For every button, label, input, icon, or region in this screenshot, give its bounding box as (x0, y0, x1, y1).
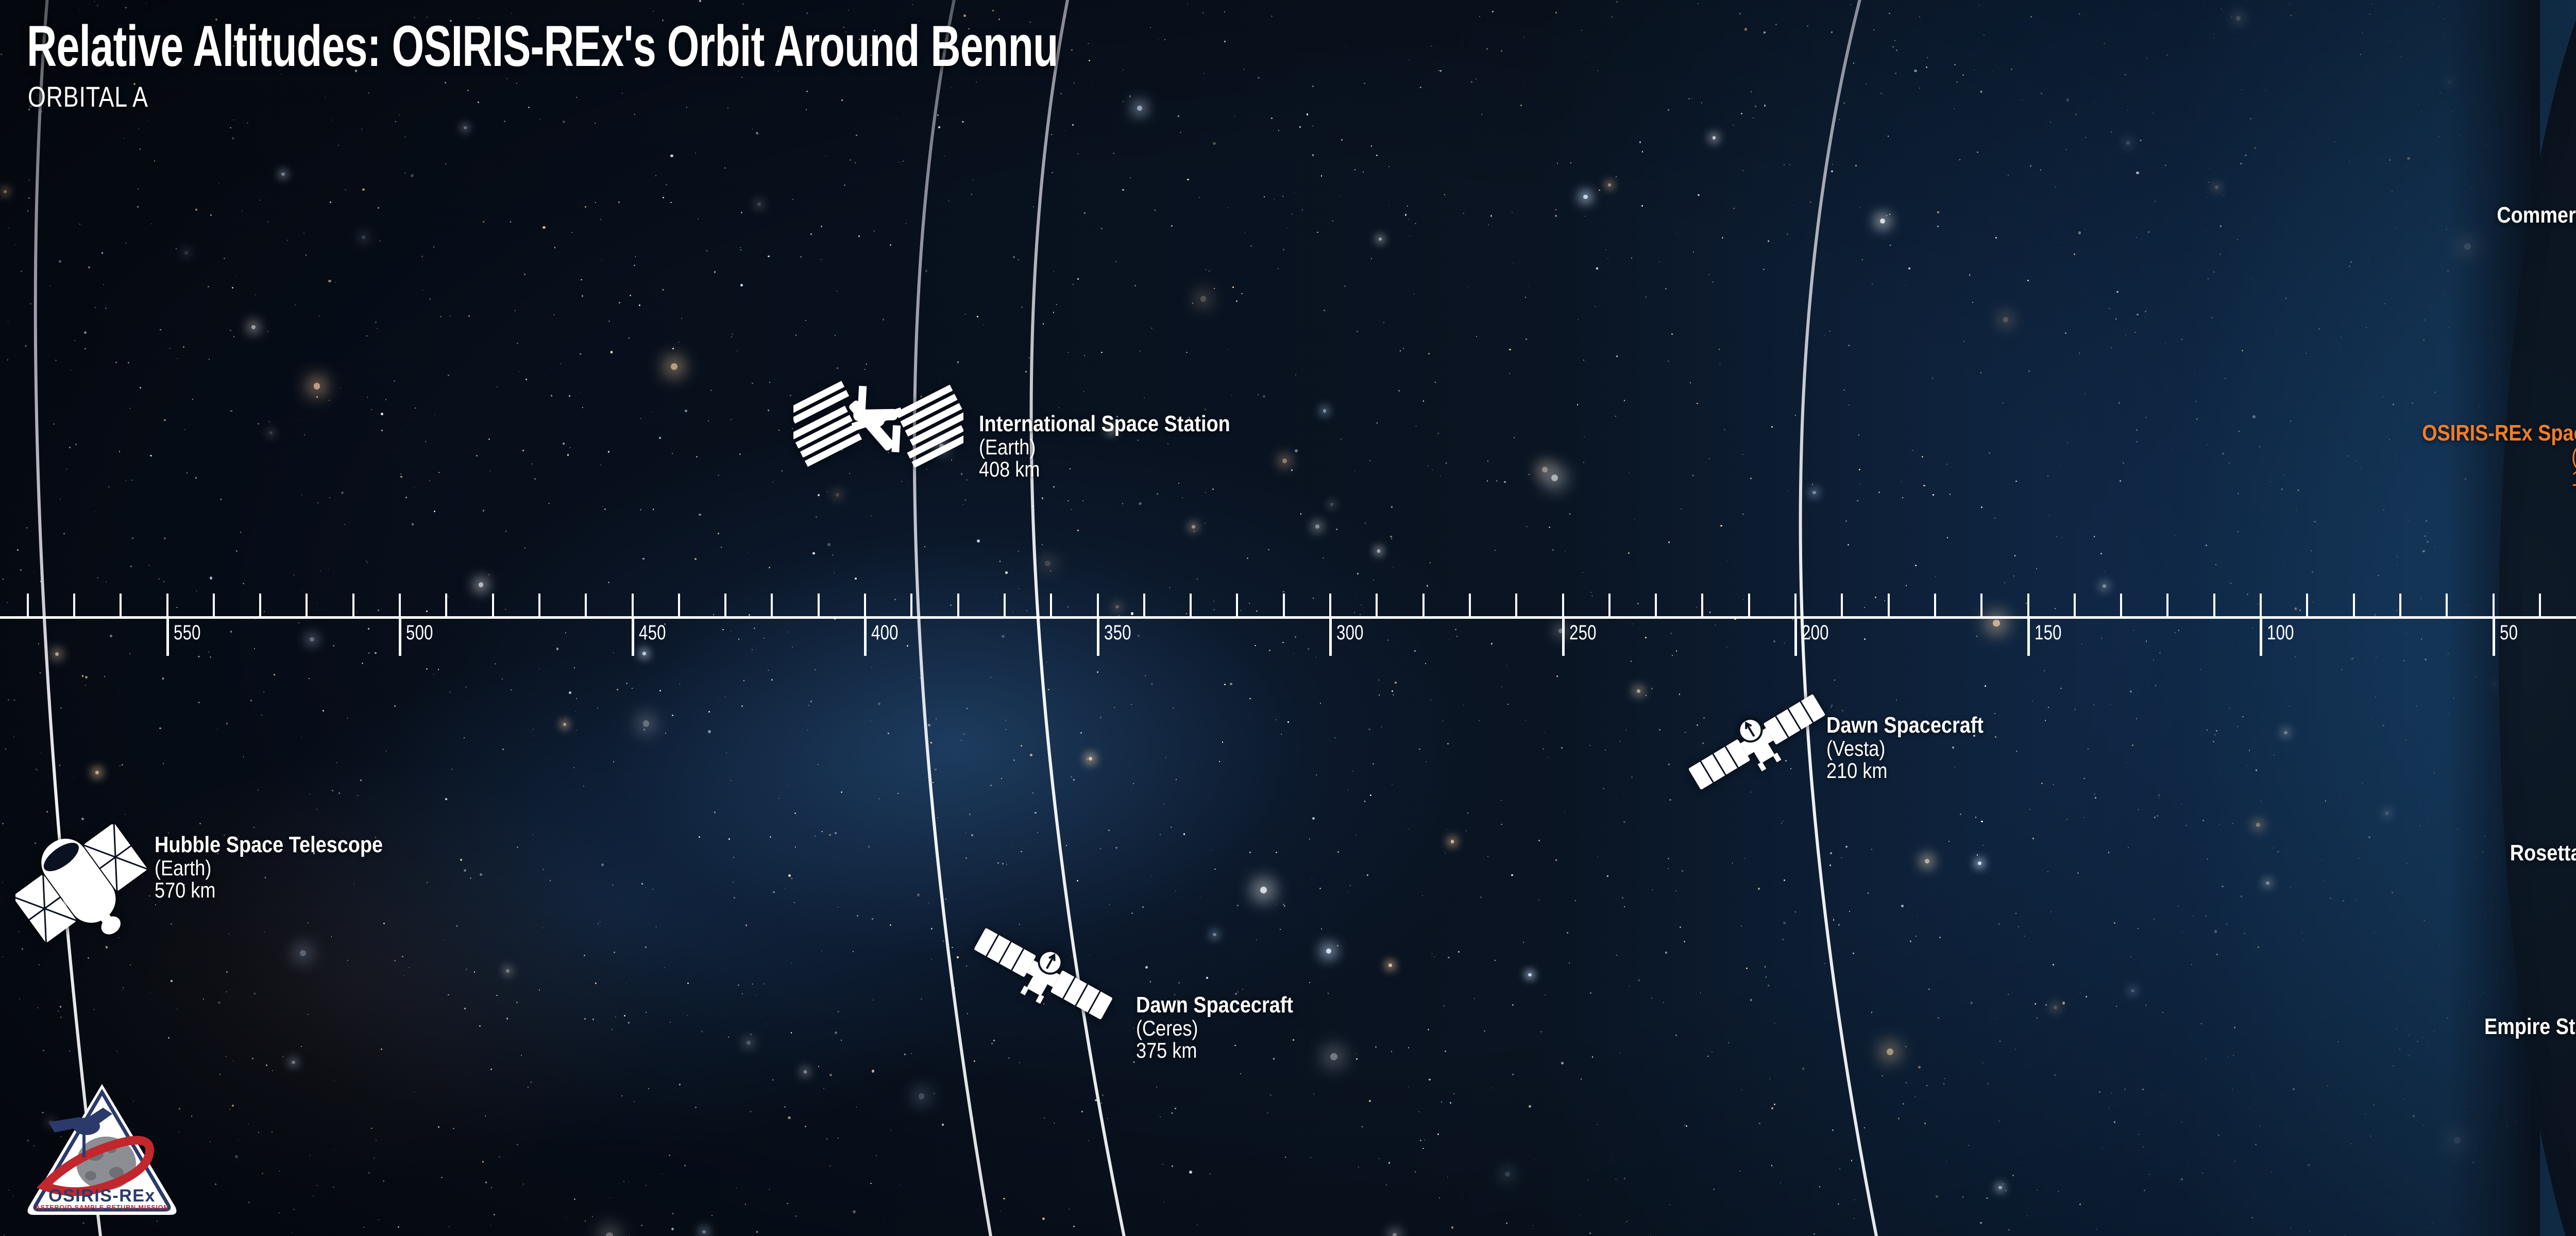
axis-tick-label: 150 (2035, 621, 2062, 645)
annotation-altitude: 1.33 km (2422, 467, 2576, 490)
axis-minor-tick (2166, 594, 2168, 616)
axis-minor-tick (399, 594, 401, 616)
annotation-hubble-space-telescope: Hubble Space Telescope (Earth) 570 km (155, 833, 420, 902)
axis-minor-tick (1190, 594, 1192, 616)
axis-major-tick (2027, 618, 2030, 656)
axis-minor-tick (2306, 594, 2308, 616)
axis-tick-label: 500 (406, 621, 433, 645)
annotation-name: Hubble Space Telescope (155, 833, 383, 857)
annotation-name: Commercial Airliner (2497, 204, 2576, 227)
axis-minor-tick (1562, 594, 1564, 616)
annotation-international-space-station: International Space Station (Earth) 408 … (979, 412, 1271, 481)
axis-minor-tick (166, 594, 168, 616)
annotation-body: (Earth) (979, 436, 1230, 459)
axis-major-tick (1562, 618, 1565, 656)
axis-minor-tick (2120, 594, 2122, 616)
axis-minor-tick (1934, 594, 1936, 616)
axis-minor-tick (1004, 594, 1006, 616)
axis-minor-tick (910, 594, 912, 616)
axis-minor-tick (352, 594, 354, 616)
axis-minor-tick (1701, 594, 1703, 616)
axis-tick-label: 100 (2267, 621, 2294, 645)
annotation-empire-state-building: Empire State Building (Earth) 0.4 km (2451, 1015, 2576, 1083)
axis-minor-tick (1376, 594, 1378, 616)
axis-major-tick (166, 618, 169, 656)
page-subtitle: ORBITAL A (28, 82, 148, 111)
axis-minor-tick (585, 594, 587, 616)
axis-minor-tick (632, 594, 634, 616)
annotation-name: International Space Station (979, 412, 1230, 436)
annotation-dawn-spacecraft-ceres: Dawn Spacecraft (Ceres) 375 km (1136, 993, 1319, 1062)
axis-major-tick (1794, 618, 1797, 656)
axis-minor-tick (492, 594, 494, 616)
annotation-body: (Earth) (2497, 227, 2576, 250)
annotation-name: Empire State Building (2484, 1015, 2576, 1039)
axis-minor-tick (1748, 594, 1750, 616)
axis-major-tick (2260, 618, 2262, 656)
axis-minor-tick (1608, 594, 1611, 616)
axis-minor-tick (73, 594, 75, 616)
logo-tagline: ASTEROID SAMPLE RETURN MISSION (36, 1204, 169, 1211)
annotation-body: (Vesta) (1826, 737, 1984, 760)
annotation-name: OSIRIS-REx Spacecraft (2422, 421, 2576, 445)
axis-minor-tick (2399, 594, 2401, 616)
annotation-altitude: 408 km (979, 458, 1230, 481)
dawn-spacecraft-icon (1682, 690, 1832, 793)
axis-minor-tick (1143, 594, 1145, 616)
logo-wordmark: OSIRIS-REx (48, 1186, 156, 1206)
axis-tick-label: 450 (639, 621, 666, 645)
annotation-dawn-spacecraft-vesta: Dawn Spacecraft (Vesta) 210 km (1826, 714, 2009, 782)
infographic-canvas: 55050045040035030025020015010050 Relativ… (0, 0, 2576, 1236)
axis-minor-tick (1329, 594, 1331, 616)
annotation-name: Rosetta Spacecraft (2510, 841, 2576, 865)
annotation-body: (Earth) (155, 857, 383, 879)
annotation-name: Dawn Spacecraft (1826, 714, 1984, 737)
axis-tick-label: 550 (174, 621, 201, 645)
axis-minor-tick (1841, 594, 1843, 616)
axis-minor-tick (1236, 594, 1238, 616)
axis-tick-label: 200 (1802, 621, 1829, 645)
annotation-body: (Ceres) (1136, 1017, 1293, 1040)
axis-minor-tick (2213, 594, 2215, 616)
axis-minor-tick (1469, 594, 1471, 616)
axis-major-tick (2493, 618, 2495, 656)
axis-minor-tick (27, 594, 29, 616)
axis-minor-tick (2074, 594, 2076, 616)
annotation-body: (Bennu) (2422, 445, 2576, 468)
axis-tick-label: 50 (2500, 621, 2518, 645)
axis-minor-tick (2493, 594, 2495, 616)
axis-minor-tick (1097, 594, 1099, 616)
annotation-body: (Comet 67P) (2510, 865, 2576, 888)
annotation-altitude: 0.4 km (2484, 1061, 2576, 1083)
axis-minor-tick (1888, 594, 1890, 616)
axis-minor-tick (771, 594, 773, 616)
annotation-osiris-rex-spacecraft: OSIRIS-REx Spacecraft (Bennu) 1.33 km (2387, 421, 2576, 490)
axis-minor-tick (1515, 594, 1517, 616)
axis-minor-tick (2260, 594, 2262, 616)
axis-minor-tick (2446, 594, 2448, 616)
axis-minor-tick (724, 594, 726, 616)
hubble-telescope-icon (15, 824, 149, 948)
axis-minor-tick (1794, 594, 1797, 616)
axis-minor-tick (306, 594, 308, 616)
axis-minor-tick (2539, 594, 2541, 616)
axis-minor-tick (1655, 594, 1657, 616)
axis-major-tick (399, 618, 401, 656)
annotation-altitude: 570 km (155, 879, 383, 902)
annotation-altitude: 12 km (2497, 249, 2576, 272)
axis-minor-tick (678, 594, 680, 616)
altitude-axis-line (0, 616, 2576, 619)
axis-minor-tick (957, 594, 959, 616)
axis-minor-tick (445, 594, 447, 616)
annotation-altitude: 10 km (2510, 887, 2576, 910)
axis-tick-label: 350 (1104, 621, 1131, 645)
axis-minor-tick (1980, 594, 1982, 616)
axis-minor-tick (1283, 594, 1285, 616)
annotation-altitude: 375 km (1136, 1039, 1293, 1062)
axis-tick-label: 250 (1569, 621, 1597, 645)
axis-minor-tick (2353, 594, 2355, 616)
axis-minor-tick (864, 594, 866, 616)
axis-major-tick (864, 618, 867, 656)
axis-major-tick (1097, 618, 1099, 656)
axis-minor-tick (2027, 594, 2029, 616)
annotation-altitude: 210 km (1826, 759, 1984, 782)
axis-minor-tick (120, 594, 122, 616)
annotation-body: (Earth) (2484, 1039, 2576, 1061)
axis-tick-label: 300 (1336, 621, 1364, 645)
axis-minor-tick (818, 594, 820, 616)
axis-major-tick (632, 618, 634, 656)
annotation-rosetta-spacecraft: Rosetta Spacecraft (Comet 67P) 10 km (2481, 841, 2576, 910)
axis-minor-tick (538, 594, 540, 616)
annotation-commercial-airliner: Commercial Airliner (Earth) 12 km (2467, 204, 2576, 272)
axis-minor-tick (259, 594, 261, 616)
axis-tick-label: 400 (871, 621, 899, 645)
axis-major-tick (1329, 618, 1332, 656)
axis-minor-tick (1422, 594, 1425, 616)
axis-minor-tick (213, 594, 215, 616)
osiris-rex-mission-logo: OSIRIS-REx ASTEROID SAMPLE RETURN MISSIO… (25, 1077, 179, 1221)
dawn-spacecraft-icon (969, 922, 1118, 1025)
annotation-name: Dawn Spacecraft (1136, 993, 1293, 1017)
axis-minor-tick (1050, 594, 1052, 616)
page-title: Relative Altitudes: OSIRIS-REx's Orbit A… (27, 18, 1058, 75)
space-station-icon (793, 366, 963, 484)
